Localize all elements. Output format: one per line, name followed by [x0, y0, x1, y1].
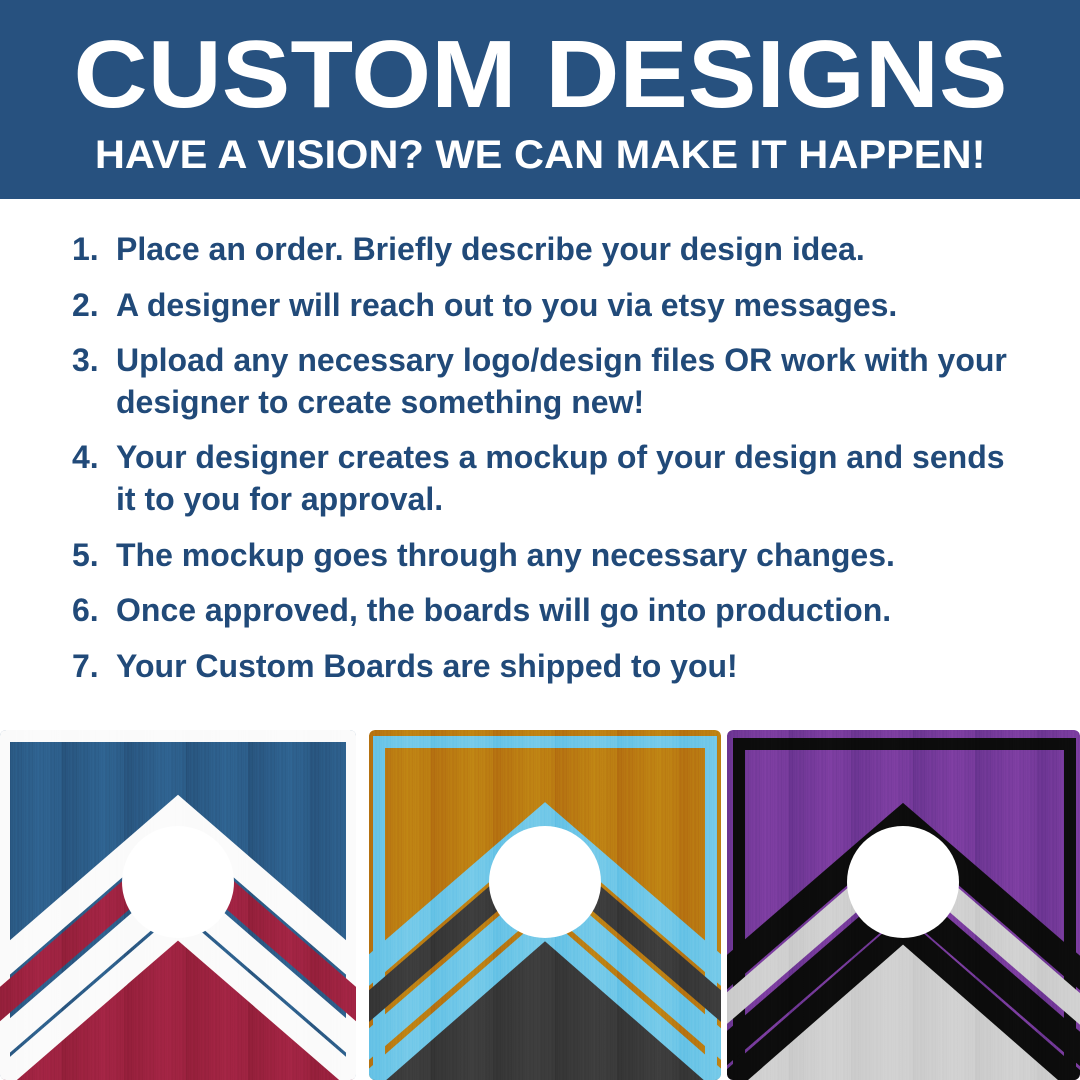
step-number: 5.	[72, 535, 116, 577]
step-text: The mockup goes through any necessary ch…	[116, 535, 895, 577]
cornhole-board-purple[interactable]	[727, 730, 1080, 1080]
step-text: Place an order. Briefly describe your de…	[116, 229, 865, 271]
board-design-group	[369, 730, 721, 1080]
step-number: 2.	[72, 285, 116, 327]
step-text: Upload any necessary logo/design files O…	[116, 340, 1016, 423]
step-number: 1.	[72, 229, 116, 271]
list-item: 1. Place an order. Briefly describe your…	[0, 229, 1080, 271]
step-number: 3.	[72, 340, 116, 382]
sun-circle	[122, 826, 234, 938]
cornhole-board-blue[interactable]	[0, 730, 356, 1080]
board-design-svg	[369, 730, 721, 1080]
cornhole-board-gold[interactable]	[369, 730, 721, 1080]
board-design-svg	[0, 730, 356, 1080]
step-number: 6.	[72, 590, 116, 632]
list-item: 5. The mockup goes through any necessary…	[0, 535, 1080, 577]
board-artwork	[369, 730, 721, 1080]
step-text: Your designer creates a mockup of your d…	[116, 437, 1016, 520]
step-text: Once approved, the boards will go into p…	[116, 590, 891, 632]
board-design-svg	[727, 730, 1080, 1080]
step-number: 4.	[72, 437, 116, 479]
step-text: A designer will reach out to you via ets…	[116, 285, 897, 327]
sun-circle	[847, 826, 959, 938]
list-item: 6. Once approved, the boards will go int…	[0, 590, 1080, 632]
board-artwork	[727, 730, 1080, 1080]
board-design-group	[727, 730, 1080, 1080]
header-banner: CUSTOM DESIGNS HAVE A VISION? WE CAN MAK…	[0, 0, 1080, 199]
page-subtitle: HAVE A VISION? WE CAN MAKE IT HAPPEN!	[95, 135, 986, 175]
sun-circle	[489, 826, 601, 938]
step-number: 7.	[72, 646, 116, 688]
list-item: 2. A designer will reach out to you via …	[0, 285, 1080, 327]
step-text: Your Custom Boards are shipped to you!	[116, 646, 738, 688]
list-item: 3. Upload any necessary logo/design file…	[0, 340, 1080, 423]
steps-list: 1. Place an order. Briefly describe your…	[0, 199, 1080, 719]
list-item: 4. Your designer creates a mockup of you…	[0, 437, 1080, 520]
board-gallery	[0, 730, 1080, 1080]
board-artwork	[0, 730, 356, 1080]
page-title: CUSTOM DESIGNS	[73, 24, 1007, 122]
board-design-group	[0, 730, 356, 1080]
list-item: 7. Your Custom Boards are shipped to you…	[0, 646, 1080, 688]
